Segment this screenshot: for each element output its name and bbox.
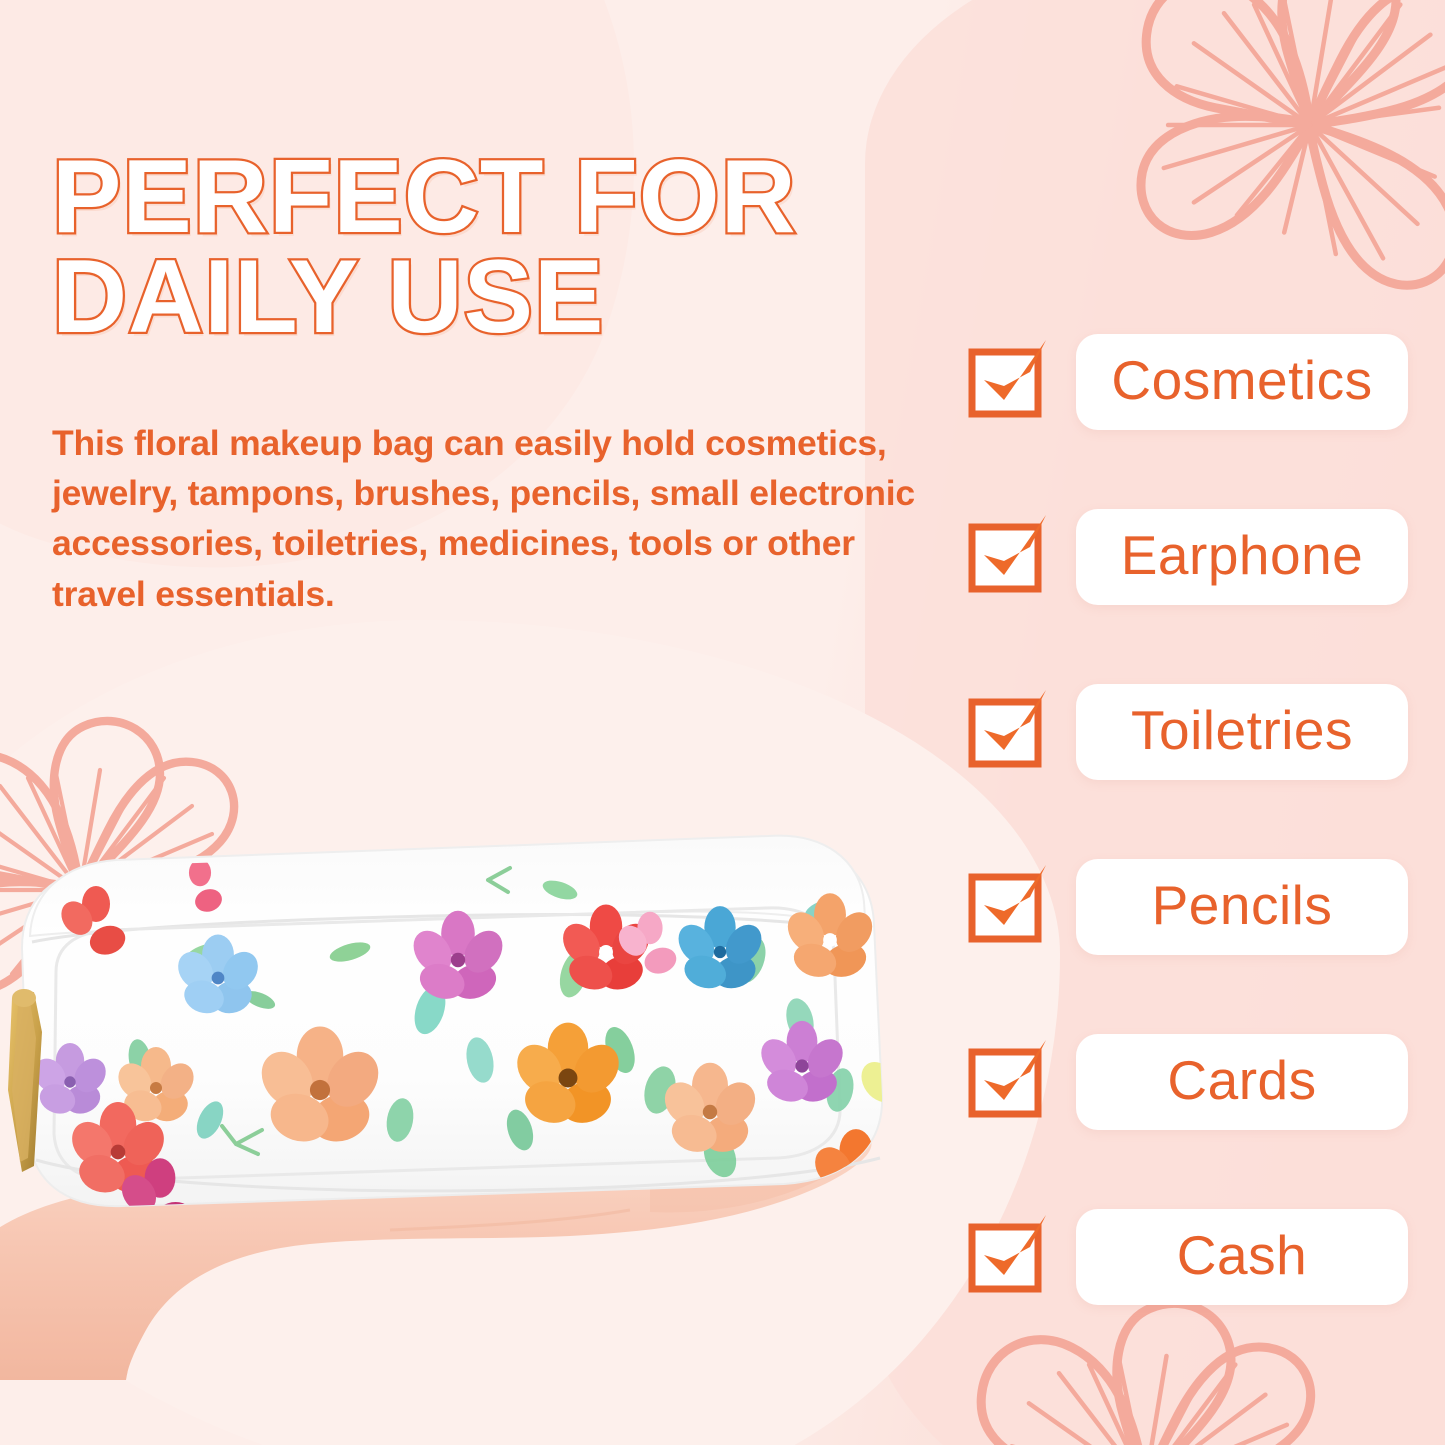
feature-pill[interactable]: Pencils <box>1076 859 1408 955</box>
list-item-label: Cosmetics <box>1111 353 1372 412</box>
description-paragraph: This floral makeup bag can easily hold c… <box>52 418 952 620</box>
feature-pill[interactable]: Toiletries <box>1076 684 1408 780</box>
headline-line-2: DAILY USE <box>52 248 1012 348</box>
headline-line-1: PERFECT FOR <box>52 148 1012 248</box>
list-item-label: Cash <box>1177 1228 1307 1287</box>
list-item[interactable]: Cash <box>968 1209 1408 1305</box>
feature-pill[interactable]: Cards <box>1076 1034 1408 1130</box>
checkbox-checked-icon[interactable] <box>968 513 1052 597</box>
list-item[interactable]: Earphone <box>968 509 1408 605</box>
list-item-label: Earphone <box>1121 528 1364 587</box>
checkbox-checked-icon[interactable] <box>968 1038 1052 1122</box>
feature-pill[interactable]: Earphone <box>1076 509 1408 605</box>
list-item-label: Pencils <box>1152 878 1333 937</box>
checkbox-checked-icon[interactable] <box>968 1213 1052 1297</box>
list-item[interactable]: Cards <box>968 1034 1408 1130</box>
list-item[interactable]: Toiletries <box>968 684 1408 780</box>
page-title: PERFECT FOR DAILY USE <box>52 148 1012 348</box>
features-checklist: Cosmetics Earphone Toiletr <box>968 334 1408 1305</box>
product-infographic: PERFECT FOR DAILY USE This floral makeup… <box>0 0 1445 1445</box>
list-item[interactable]: Pencils <box>968 859 1408 955</box>
list-item-label: Toiletries <box>1131 703 1353 762</box>
list-item[interactable]: Cosmetics <box>968 334 1408 430</box>
list-item-label: Cards <box>1167 1053 1316 1112</box>
checkbox-checked-icon[interactable] <box>968 863 1052 947</box>
checkbox-checked-icon[interactable] <box>968 688 1052 772</box>
feature-pill[interactable]: Cash <box>1076 1209 1408 1305</box>
pouch-body <box>8 836 954 1239</box>
feature-pill[interactable]: Cosmetics <box>1076 334 1408 430</box>
checkbox-checked-icon[interactable] <box>968 338 1052 422</box>
makeup-pouch-in-hand-photo <box>0 760 980 1380</box>
